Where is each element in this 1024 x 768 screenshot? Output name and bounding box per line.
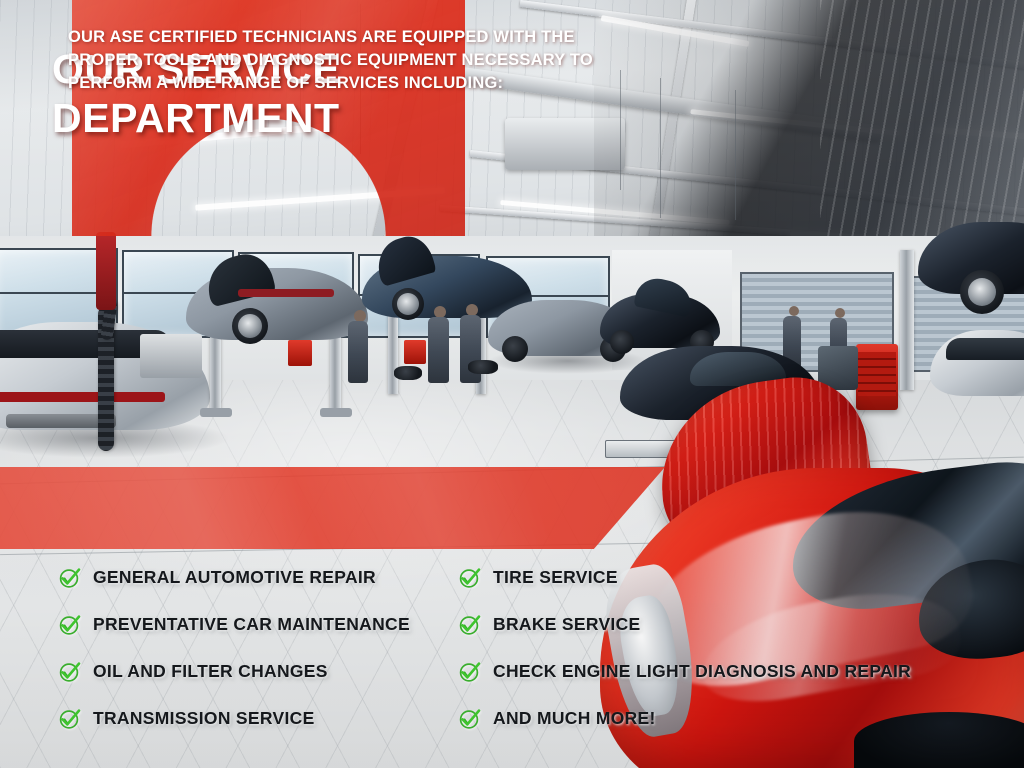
service-label: TRANSMISSION SERVICE	[93, 708, 315, 729]
statement-bar-shape	[0, 467, 665, 549]
wheel	[502, 336, 528, 362]
service-department-poster: OUR SERVICE DEPARTMENT OUR ASE CERTIFIED…	[0, 0, 1024, 768]
wheel	[610, 330, 634, 354]
tool-cabinet-drawers	[858, 352, 896, 396]
statement-sheen	[0, 467, 665, 549]
lift-base	[200, 408, 232, 417]
service-item[interactable]: OIL AND FILTER CHANGES	[58, 648, 478, 695]
services-column-right: TIRE SERVICE BRAKE SERVICE CHECK ENGINE …	[458, 554, 1018, 742]
service-label: BRAKE SERVICE	[493, 614, 641, 635]
green-check-icon	[58, 566, 82, 590]
green-check-icon	[58, 707, 82, 731]
floor-jack	[404, 340, 426, 364]
statement-text: OUR ASE CERTIFIED TECHNICIANS ARE EQUIPP…	[68, 26, 608, 96]
service-item[interactable]: AND MUCH MORE!	[458, 695, 1018, 742]
technician	[348, 321, 368, 383]
technician	[428, 317, 449, 383]
green-check-icon	[458, 566, 482, 590]
lift-post	[330, 330, 341, 412]
green-check-icon	[58, 660, 82, 684]
green-check-icon	[458, 660, 482, 684]
technician-head	[789, 306, 799, 316]
green-check-icon	[458, 613, 482, 637]
service-label: GENERAL AUTOMOTIVE REPAIR	[93, 567, 376, 588]
service-item[interactable]: GENERAL AUTOMOTIVE REPAIR	[58, 554, 478, 601]
wheel-rim	[397, 293, 419, 315]
loose-tire	[468, 360, 498, 374]
loose-tire	[394, 366, 422, 380]
service-item[interactable]: PREVENTATIVE CAR MAINTENANCE	[58, 601, 478, 648]
service-label: OIL AND FILTER CHANGES	[93, 661, 328, 682]
service-item[interactable]: BRAKE SERVICE	[458, 601, 1018, 648]
technician-head	[835, 308, 845, 318]
service-label: TIRE SERVICE	[493, 567, 618, 588]
lift-post	[900, 250, 914, 390]
taillight-bar	[0, 392, 165, 402]
service-label: CHECK ENGINE LIGHT DIAGNOSIS AND REPAIR	[493, 661, 911, 682]
services-list: GENERAL AUTOMOTIVE REPAIR PREVENTATIVE C…	[0, 554, 1024, 754]
service-item[interactable]: TIRE SERVICE	[458, 554, 1018, 601]
service-item[interactable]: TRANSMISSION SERVICE	[58, 695, 478, 742]
wheel-rim	[968, 278, 996, 306]
services-column-left: GENERAL AUTOMOTIVE REPAIR PREVENTATIVE C…	[58, 554, 478, 742]
car-roofline	[946, 338, 1024, 360]
service-label: AND MUCH MORE!	[493, 708, 656, 729]
service-label: PREVENTATIVE CAR MAINTENANCE	[93, 614, 410, 635]
lift-base	[320, 408, 352, 417]
lift-post	[388, 308, 398, 394]
service-item[interactable]: CHECK ENGINE LIGHT DIAGNOSIS AND REPAIR	[458, 648, 1018, 695]
floor-jack	[288, 340, 312, 366]
taillight-bar	[238, 289, 334, 297]
green-check-icon	[58, 613, 82, 637]
exhaust-reel	[96, 232, 116, 310]
wheel-rim	[238, 314, 262, 338]
workbench	[140, 334, 202, 378]
lift-post	[210, 330, 221, 412]
green-check-icon	[458, 707, 482, 731]
